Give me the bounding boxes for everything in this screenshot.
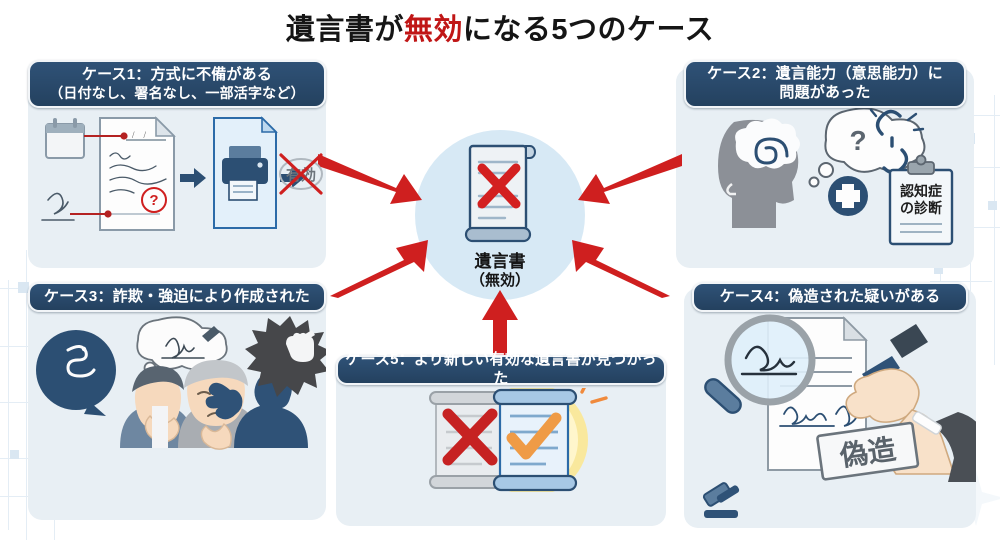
gavel-icon [700,478,744,520]
calendar-icon [46,118,84,158]
printer-icon [214,118,276,228]
new-scroll-with-check-icon [494,390,576,490]
snake-speech-bubble-icon [36,330,116,416]
arrow-from-case4 [570,232,670,303]
title-text-before: 遺言書が [286,14,404,46]
old-scroll-with-x-icon [430,392,508,488]
center-scroll-icon [462,140,538,248]
case1-header-line2: （日付なし、署名なし、一部活字など） [49,85,305,103]
case2-header-line2: 問題があった [779,84,870,103]
title-text-after: になる5つのケース [463,14,714,46]
svg-text:/ /: / / [132,130,147,140]
page-title: 遺言書が無効になる5つのケース [0,6,1000,48]
svg-text:認知症: 認知症 [900,183,942,199]
center-label: 遺言書 （無効） [415,252,585,290]
case2-illustration: ? 認知症 [676,108,974,250]
case2-header-line1: ケース2：遺言能力（意思能力）に [707,65,943,84]
case4-header-line1: ケース4：偽造された疑いがある [720,288,941,307]
crossed-out-valid-stamp-icon: 有効 [276,150,326,198]
sparkle-icon [582,388,606,402]
case4-illustration: 偽造 [684,314,976,486]
head-with-brain-icon [718,118,800,228]
case4-header: ケース4：偽造された疑いがある [692,282,968,312]
signature-icon [42,193,74,220]
center-label-main: 遺言書 [475,252,526,271]
arrow-right-icon [180,168,206,188]
arrow-from-case2 [574,152,682,219]
title-text-highlight: 無効 [404,14,463,46]
center-label-sub: （無効） [415,272,585,290]
arrow-from-case1 [318,152,426,219]
case3-illustration [28,316,326,488]
case1-header-line1: ケース1：方式に不備がある [82,66,272,85]
infographic-canvas: 遺言書が無効になる5つのケース 遺言書 （無効） [0,0,1000,545]
case3-header-line1: ケース3：詐欺・強迫により作成された [44,288,310,307]
case1-header: ケース1：方式に不備がある （日付なし、署名なし、一部活字など） [28,60,326,108]
case2-header: ケース2：遺言能力（意思能力）に 問題があった [684,60,966,108]
medical-cross-icon [828,176,868,216]
case5-header: ケース5：より新しい有効な遺言書が見つかった [336,355,666,385]
case5-header-line1: ケース5：より新しい有効な遺言書が見つかった [338,351,664,389]
svg-text:?: ? [849,125,866,156]
case5-illustration [336,388,666,492]
svg-text:の診断: の診断 [900,200,942,216]
svg-text:?: ? [149,192,158,209]
case3-header: ケース3：詐欺・強迫により作成された [28,282,326,312]
